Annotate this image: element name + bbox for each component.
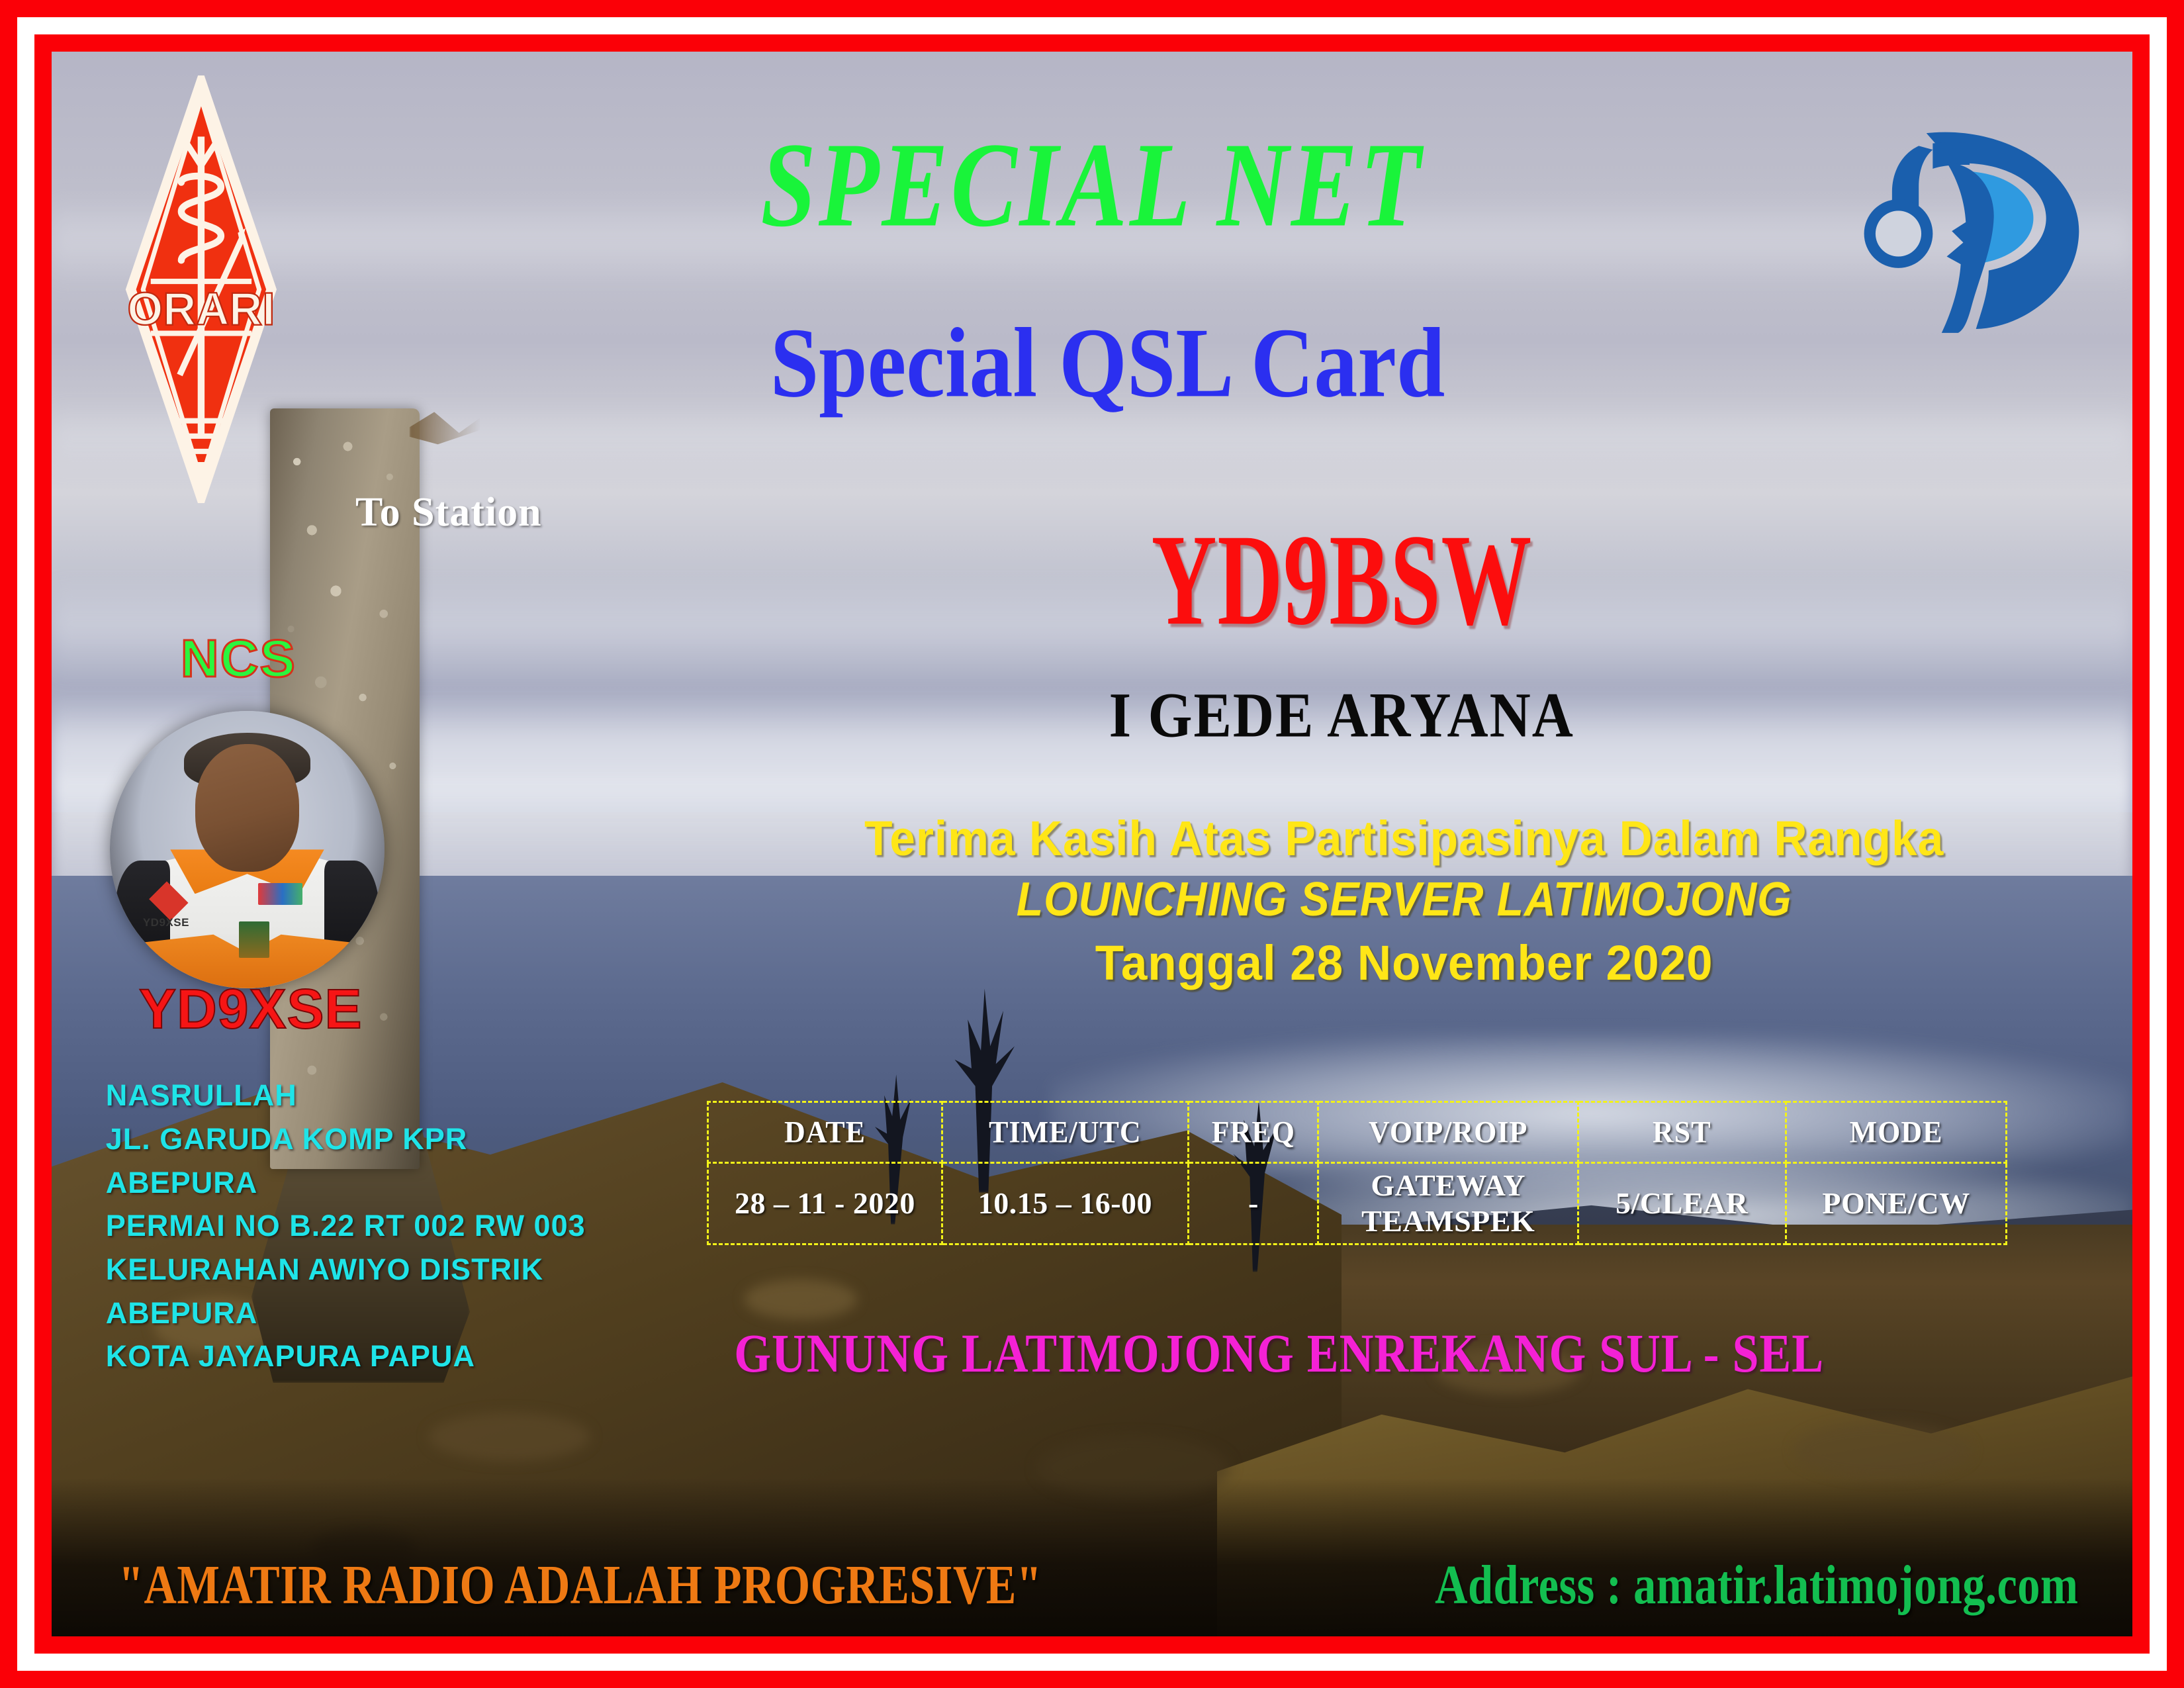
ncs-label: NCS — [181, 628, 296, 689]
address-line: KOTA JAYAPURA PAPUA — [106, 1335, 586, 1378]
column-header-mode: MODE — [1786, 1100, 2007, 1164]
to-station-label: To Station — [355, 489, 542, 536]
table-row: 28 – 11 - 2020 10.15 – 16-00 - GATEWAY T… — [708, 1162, 2007, 1244]
address-line: ABEPURA — [106, 1291, 586, 1335]
sender-address-block: NASRULLAH JL. GARUDA KOMP KPR ABEPURA PE… — [106, 1074, 586, 1378]
qsl-card-outer-frame: ORARI SPE — [0, 0, 2184, 1688]
cell-freq: - — [1189, 1162, 1318, 1244]
cell-rst: 5/CLEAR — [1578, 1162, 1786, 1244]
column-header-time: TIME/UTC — [942, 1100, 1189, 1164]
operator-uniform-callsign: YD9XSE — [143, 916, 189, 929]
cell-voip: GATEWAY TEAMSPEK — [1318, 1162, 1578, 1244]
table-header-row: DATE TIME/UTC FREQ VOIP/ROIP RST MODE — [708, 1102, 2007, 1162]
address-line: NASRULLAH — [106, 1074, 586, 1117]
page-title-special-net: SPECIAL NET — [52, 124, 2132, 246]
thanks-line-2-event: LOUNCHING SERVER LATIMOJONG — [811, 874, 1997, 926]
ncs-operator-photo: YD9XSE — [110, 711, 385, 988]
column-header-voip: VOIP/ROIP — [1318, 1100, 1578, 1164]
thanks-line-1: Terima Kasih Atas Partisipasinya Dalam R… — [797, 812, 2010, 865]
address-line: KELURAHAN AWIYO DISTRIK — [106, 1248, 586, 1291]
recipient-operator-name: I GEDE ARYANA — [925, 678, 1758, 752]
address-line: ABEPURA — [106, 1161, 586, 1205]
thanks-message-block: Terima Kasih Atas Partisipasinya Dalam R… — [759, 812, 2049, 990]
column-header-freq: FREQ — [1189, 1100, 1318, 1164]
column-header-date: DATE — [708, 1100, 942, 1164]
column-header-rst: RST — [1578, 1100, 1786, 1164]
ncs-callsign: YD9XSE — [139, 977, 363, 1041]
cell-time: 10.15 – 16-00 — [942, 1162, 1189, 1244]
thanks-line-3-date: Tanggal 28 November 2020 — [785, 937, 2023, 990]
page-subtitle-qsl-card: Special QSL Card — [52, 313, 2132, 412]
card-photo-background: ORARI SPE — [52, 52, 2132, 1636]
footer-motto: "AMATIR RADIO ADALAH PROGRESIVE" — [118, 1554, 1042, 1617]
location-line: GUNUNG LATIMOJONG ENREKANG SUL - SEL — [654, 1323, 1905, 1385]
footer-web-address: Address : amatir.latimojong.com — [1435, 1554, 2078, 1617]
cell-date: 28 – 11 - 2020 — [708, 1162, 942, 1244]
recipient-callsign: YD9BSW — [1023, 514, 1660, 645]
operator-id-card — [239, 921, 269, 957]
address-line: PERMAI NO B.22 RT 002 RW 003 — [106, 1204, 586, 1248]
qso-log-table: DATE TIME/UTC FREQ VOIP/ROIP RST MODE 28… — [707, 1101, 2007, 1246]
cell-mode: PONE/CW — [1786, 1162, 2007, 1244]
operator-chest-logo — [258, 883, 302, 906]
operator-face — [195, 744, 300, 872]
address-line: JL. GARUDA KOMP KPR — [106, 1117, 586, 1161]
